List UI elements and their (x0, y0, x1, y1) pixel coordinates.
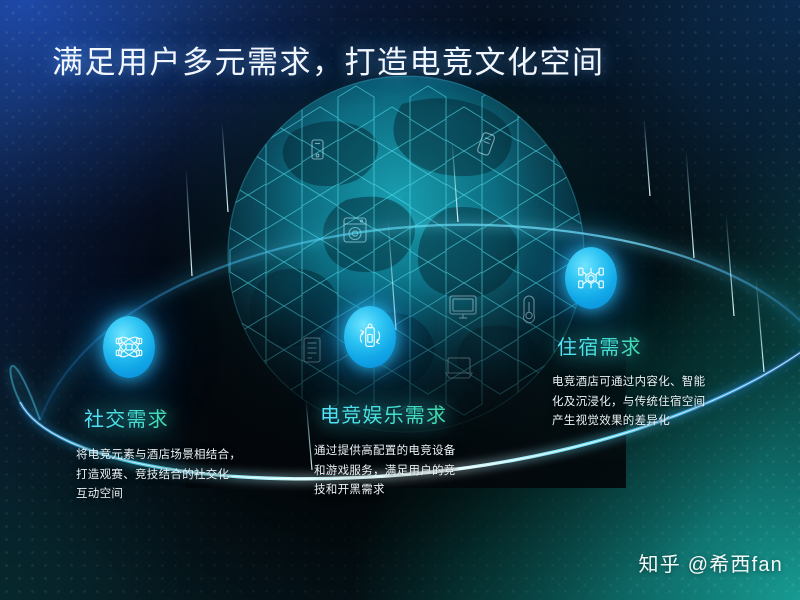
feature-badge-esports-entertainment[interactable] (344, 306, 396, 368)
feature-body-line: 互动空间 (76, 485, 291, 505)
smart-chip-icon (574, 261, 608, 295)
feature-body-line: 将电竞元素与酒店场景相结合， (76, 446, 291, 466)
feature-body-accommodation: 电竞酒店可通过内容化、智能 化及沉浸化，与传统住宿空间 产生视觉效果的差异化 (552, 373, 764, 432)
feature-body-line: 技和开黑需求 (314, 481, 514, 501)
feature-body-line: 打造观赛、竞技结合的社交化 (76, 466, 291, 486)
feature-badge-accommodation[interactable] (565, 247, 617, 309)
feature-body-line: 电竞酒店可通过内容化、智能 (552, 373, 764, 393)
network-nodes-icon (112, 330, 146, 364)
page-title: 满足用户多元需求，打造电竞文化空间 (52, 44, 605, 82)
slide-canvas: 满足用户多元需求，打造电竞文化空间 社交需求 将电竞元素与酒店场景相结合， 打造… (0, 0, 800, 600)
device-refresh-icon (353, 320, 387, 354)
feature-heading-accommodation: 住宿需求 (557, 331, 642, 360)
feature-heading-social: 社交需求 (84, 403, 169, 432)
feature-body-line: 和游戏服务，满足用户的竞 (314, 462, 514, 482)
feature-heading-esports-entertainment: 电竞娱乐需求 (320, 399, 447, 428)
feature-badge-social[interactable] (103, 316, 155, 378)
watermark: 知乎 @希西fan (639, 548, 783, 577)
feature-body-esports-entertainment: 通过提供高配置的电竞设备 和游戏服务，满足用户的竞 技和开黑需求 (314, 442, 514, 501)
feature-body-line: 通过提供高配置的电竞设备 (314, 442, 514, 462)
feature-body-line: 化及沉浸化，与传统住宿空间 (552, 393, 764, 413)
feature-body-social: 将电竞元素与酒店场景相结合， 打造观赛、竞技结合的社交化 互动空间 (76, 446, 291, 505)
feature-body-line: 产生视觉效果的差异化 (552, 412, 764, 432)
